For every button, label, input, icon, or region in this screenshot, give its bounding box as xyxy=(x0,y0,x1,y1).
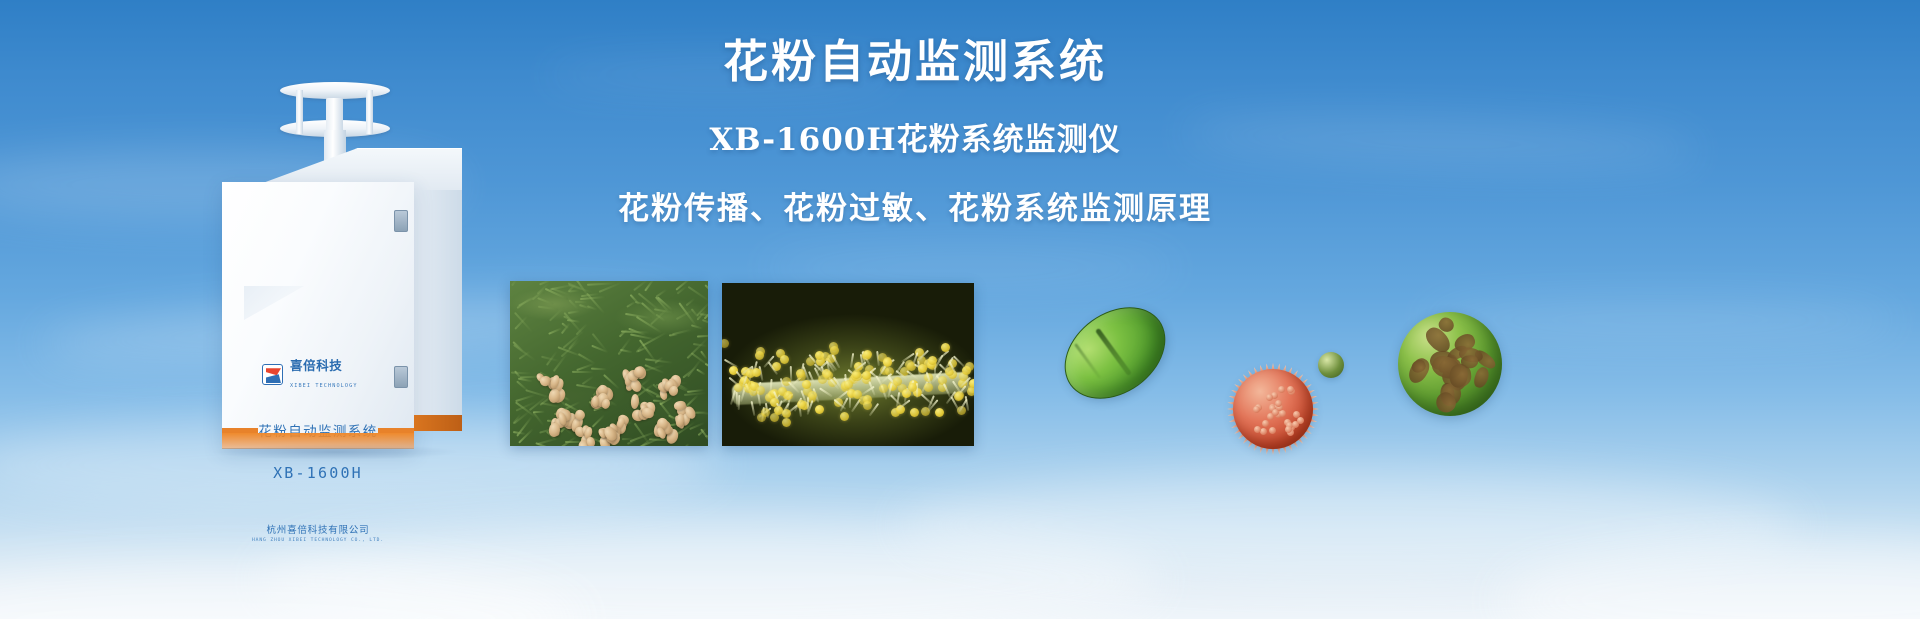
anther xyxy=(918,364,927,373)
brand-logo: 喜倍科技 XIBEI TECHNOLOGY xyxy=(262,358,358,392)
surface-bump xyxy=(1278,386,1285,393)
company-name-en: HANG ZHOU XIBEI TECHNOLOGY CO., LTD. xyxy=(222,538,414,543)
page-title: 花粉自动监测系统 xyxy=(600,34,1230,90)
mottled-green-grain xyxy=(1398,312,1502,416)
anther xyxy=(752,368,761,377)
cloud-wisp xyxy=(900,470,1800,580)
surface-bump xyxy=(1285,426,1292,433)
surface-bump xyxy=(1253,406,1260,413)
inlet-post xyxy=(366,90,373,134)
xibei-logo-icon xyxy=(262,364,283,385)
company-name-cn: 杭州喜倍科技有限公司 xyxy=(222,522,414,536)
surface-bump xyxy=(1266,394,1273,401)
conifer-pollen-cones-photo xyxy=(510,281,708,446)
spiky-red-grain xyxy=(1222,358,1324,460)
cloud-wisp xyxy=(1500,540,1920,619)
anther xyxy=(784,391,793,400)
filament xyxy=(789,366,791,381)
anther xyxy=(928,356,937,365)
headline-block: 花粉自动监测系统 XB-1600H花粉系统监测仪 花粉传播、花粉过敏、花粉系统监… xyxy=(600,34,1230,228)
anther xyxy=(824,371,833,380)
surface-bump xyxy=(1279,410,1286,417)
anther xyxy=(863,350,872,359)
anther xyxy=(797,400,806,409)
surface-bump xyxy=(1254,426,1261,433)
anther xyxy=(941,343,950,352)
brand-name-en: XIBEI TECHNOLOGY xyxy=(290,383,358,389)
device-model-label: XB-1600H xyxy=(222,464,414,482)
topic-tagline: 花粉传播、花粉过敏、花粉系统监测原理 xyxy=(600,183,1230,228)
anther xyxy=(893,377,902,386)
anther xyxy=(761,408,770,417)
product-model-subtitle: XB-1600H花粉系统监测仪 xyxy=(600,114,1230,159)
cabinet-latch xyxy=(394,366,408,388)
cabinet-front-panel: 喜倍科技 XIBEI TECHNOLOGY 花粉自动监测系统 XB-1600H … xyxy=(222,182,414,448)
pollen-monitoring-banner: 花粉自动监测系统 XB-1600H花粉系统监测仪 花粉传播、花粉过敏、花粉系统监… xyxy=(0,0,1920,619)
needle xyxy=(575,300,588,302)
surface-bump xyxy=(1262,420,1269,427)
cloud-wisp xyxy=(0,560,580,619)
catkin-anthers-photo xyxy=(722,283,974,446)
anther xyxy=(780,355,789,364)
anther xyxy=(969,379,974,388)
cloud-wisp xyxy=(760,250,1180,286)
anther xyxy=(852,370,861,379)
brand-name-cn: 喜倍科技 xyxy=(290,358,342,373)
surface-blotch xyxy=(1472,366,1491,390)
air-inlet-rain-shield xyxy=(280,78,390,158)
cloud-wisp xyxy=(1179,111,1700,173)
pollen-monitor-device: 喜倍科技 XIBEI TECHNOLOGY 花粉自动监测系统 XB-1600H … xyxy=(200,78,480,438)
surface-bump xyxy=(1275,400,1282,407)
orange-base-band-side xyxy=(414,415,462,431)
cabinet-side-panel xyxy=(414,168,462,430)
anther xyxy=(840,412,849,421)
needle xyxy=(705,435,708,437)
green-furrowed-grain xyxy=(1060,313,1170,393)
anther xyxy=(924,383,933,392)
device-company-block: 杭州喜倍科技有限公司 HANG ZHOU XIBEI TECHNOLOGY CO… xyxy=(222,522,414,543)
anther xyxy=(844,380,853,389)
anther xyxy=(782,409,791,418)
orange-base-band xyxy=(222,433,414,449)
cabinet-latch xyxy=(394,210,408,232)
cabinet-highlight xyxy=(244,286,304,320)
anther xyxy=(967,387,974,396)
anther xyxy=(782,418,791,427)
inlet-post xyxy=(296,90,303,134)
